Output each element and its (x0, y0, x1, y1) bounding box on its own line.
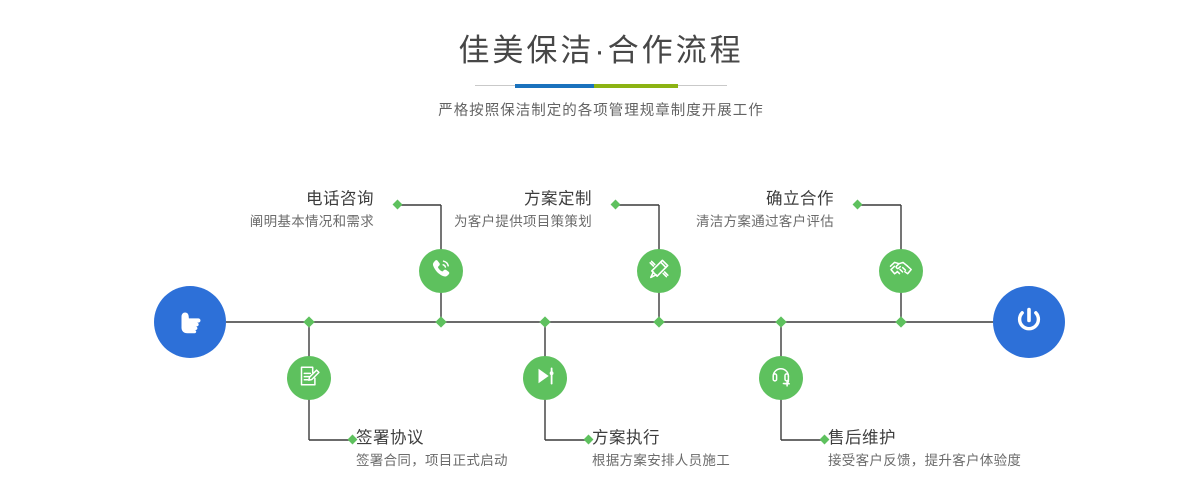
step-title-1: 电话咨询 (250, 188, 374, 210)
diamond-marker (393, 200, 403, 210)
pointing-hand-icon (170, 300, 210, 345)
step-node-5[interactable] (879, 249, 923, 293)
step-title-5: 确立合作 (696, 188, 834, 210)
page-header: 佳美保洁·合作流程 严格按照保洁制定的各项管理规章制度开展工作 (0, 0, 1202, 120)
step-node-4[interactable] (523, 356, 567, 400)
step-title-2: 签署协议 (356, 427, 508, 449)
diamond-marker (303, 316, 314, 327)
page-subtitle: 严格按照保洁制定的各项管理规章制度开展工作 (0, 99, 1202, 120)
diamond-marker (853, 200, 863, 210)
step-label-3: 方案定制 为客户提供项目策策划 (454, 188, 592, 232)
title-divider (475, 84, 727, 88)
step-node-6[interactable] (759, 356, 803, 400)
play-execute-icon (532, 363, 558, 394)
step-node-1[interactable] (419, 249, 463, 293)
step-title-6: 售后维护 (828, 427, 1021, 449)
diamond-marker (435, 316, 446, 327)
flow-start-node[interactable] (154, 286, 226, 358)
power-icon (1009, 300, 1049, 345)
pencil-ruler-icon (646, 256, 672, 287)
label-diamond-markers (348, 200, 863, 445)
step-desc-6: 接受客户反馈，提升客户体验度 (828, 451, 1021, 471)
divider-segment-green (594, 84, 678, 88)
step-title-3: 方案定制 (454, 188, 592, 210)
document-sign-icon (296, 363, 322, 394)
step-desc-5: 清洁方案通过客户评估 (696, 212, 834, 232)
diamond-marker (653, 316, 664, 327)
step-title-4: 方案执行 (592, 427, 730, 449)
step-desc-3: 为客户提供项目策策划 (454, 212, 592, 232)
step-node-2[interactable] (287, 356, 331, 400)
step-desc-1: 阐明基本情况和需求 (250, 212, 374, 232)
step-label-4: 方案执行 根据方案安排人员施工 (592, 427, 730, 471)
diamond-marker (611, 200, 621, 210)
ringing-phone-icon (428, 256, 454, 287)
step-desc-4: 根据方案安排人员施工 (592, 451, 730, 471)
step-desc-2: 签署合同，项目正式启动 (356, 451, 508, 471)
diamond-marker (895, 316, 906, 327)
divider-segment-blue (515, 84, 594, 88)
diamond-marker (775, 316, 786, 327)
step-label-2: 签署协议 签署合同，项目正式启动 (356, 427, 508, 471)
step-label-6: 售后维护 接受客户反馈，提升客户体验度 (828, 427, 1021, 471)
flow-end-node[interactable] (993, 286, 1065, 358)
page-title: 佳美保洁·合作流程 (0, 32, 1202, 71)
step-node-3[interactable] (637, 249, 681, 293)
spine-diamond-markers (303, 316, 906, 327)
diamond-marker (539, 316, 550, 327)
headset-support-icon (768, 363, 794, 394)
step-label-1: 电话咨询 阐明基本情况和需求 (250, 188, 374, 232)
handshake-icon (887, 255, 915, 288)
step-label-5: 确立合作 清洁方案通过客户评估 (696, 188, 834, 232)
